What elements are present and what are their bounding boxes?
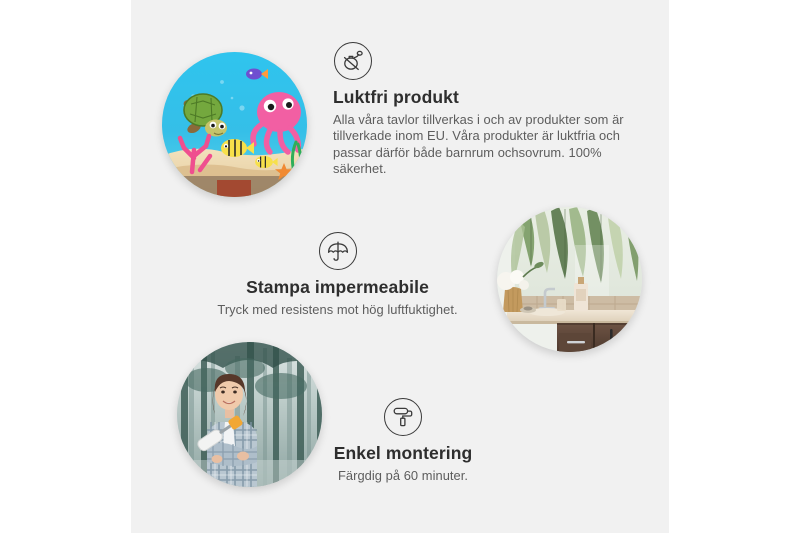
paint-roller-icon [384,398,422,436]
decorator-forest-photo [177,342,322,487]
feature-block-waterproof: Stampa impermeabile Tryck med resistens … [205,232,470,318]
feature-title: Luktfri produkt [333,87,633,108]
feature-title: Stampa impermeabile [205,277,470,298]
feature-block-easy-install: Enkel montering Färgdig på 60 minuter. [303,398,503,484]
feature-body: Tryck med resistens mot hög luftfuktighe… [205,302,470,318]
bathroom-wallpaper-photo [497,207,642,352]
feature-body: Alla våra tavlor tillverkas i och av pro… [333,112,633,178]
promo-banner: Luktfri produkt Alla våra tavlor tillver… [0,0,800,533]
feature-block-odourless: Luktfri produkt Alla våra tavlor tillver… [333,42,633,178]
no-fragrance-icon [334,42,372,80]
feature-body: Färgdig på 60 minuter. [303,468,503,484]
underwater-scene-photo [162,52,307,197]
umbrella-icon [319,232,357,270]
feature-title: Enkel montering [303,443,503,464]
